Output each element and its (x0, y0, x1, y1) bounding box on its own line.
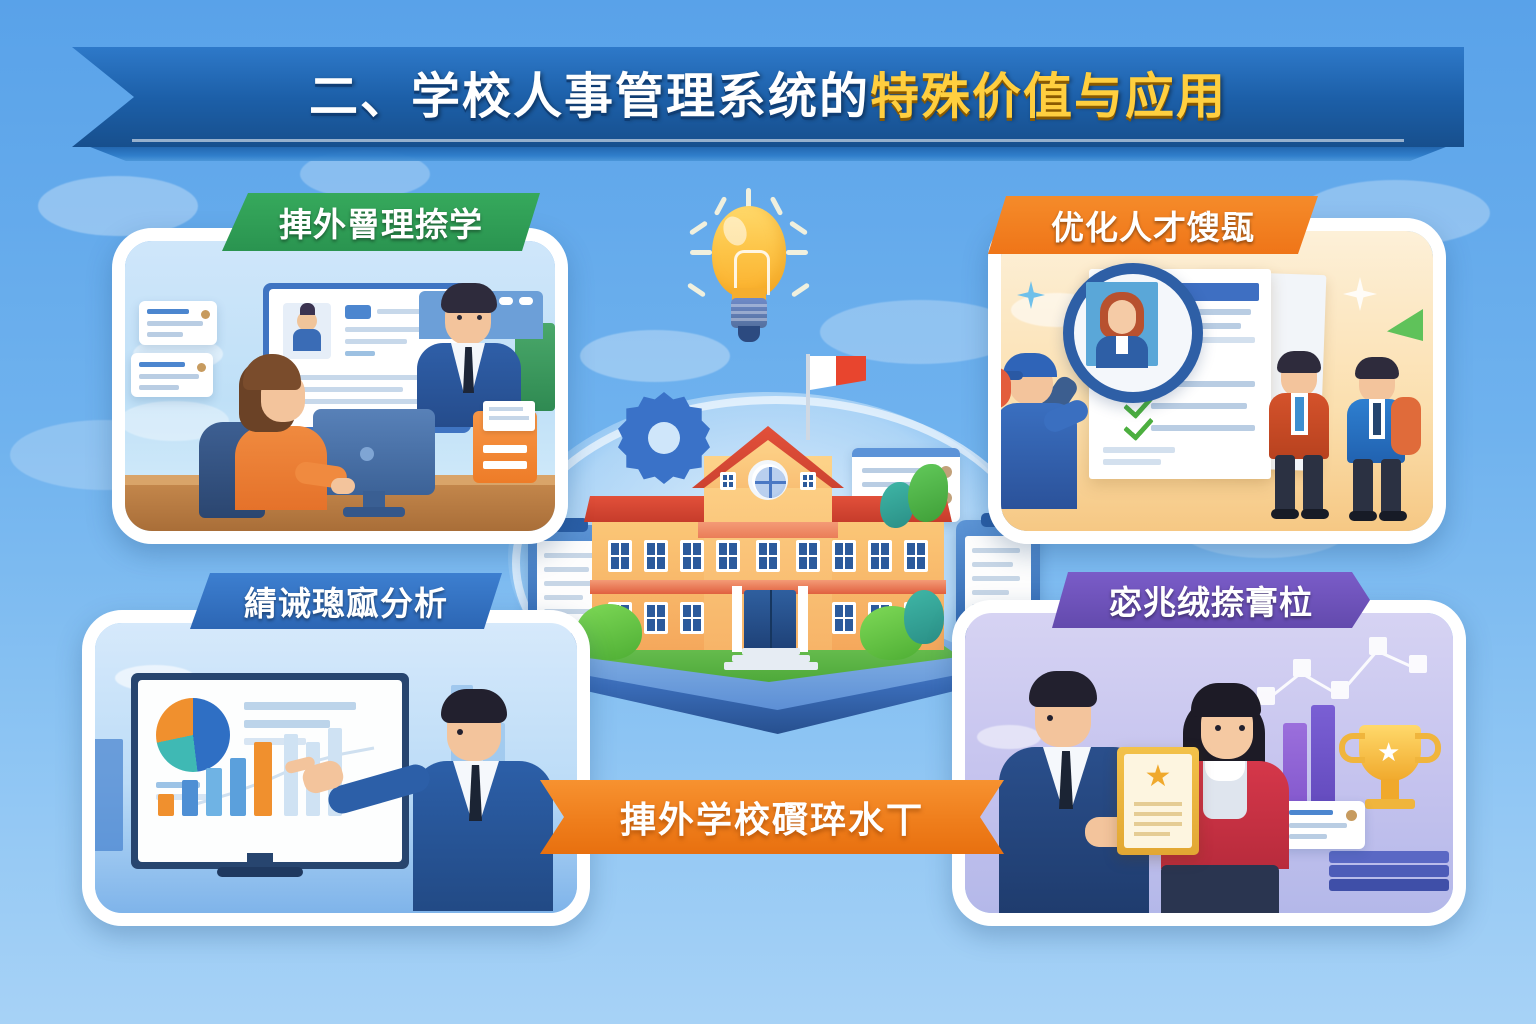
gold-certificate: ★ (1117, 747, 1199, 855)
presenter-pointing (391, 687, 571, 913)
cloud-decoration (38, 176, 198, 236)
panel-improve-management[interactable] (112, 228, 568, 544)
analytics-monitor (131, 673, 409, 869)
bush (904, 590, 944, 644)
bottom-center-banner: 捙外学校礥琗水丅 (540, 780, 1004, 854)
school-building-illustration (592, 430, 944, 688)
pediment-band (698, 522, 838, 538)
window (868, 540, 892, 572)
checkmark-icon (1123, 410, 1154, 441)
chart-screen (138, 680, 402, 862)
column (732, 586, 742, 652)
scene-hr-interview (125, 241, 555, 531)
pediment-window (800, 472, 816, 490)
entrance-steps (724, 648, 818, 670)
title-text-white: 二、学校人事管理系统的 (309, 73, 870, 122)
chart-bar (158, 794, 174, 816)
chart-bar (284, 734, 298, 816)
star-emblem: ★ (1145, 762, 1172, 792)
label-optimize-talent: 优化人才馊瓺 (988, 196, 1318, 254)
scene-data-analytics (95, 623, 577, 913)
title-text-gold: 特殊价值与应用 (870, 73, 1227, 122)
column (798, 586, 808, 652)
flag-pole (806, 354, 810, 440)
window (832, 602, 856, 634)
window (644, 540, 668, 572)
pediment-window (720, 472, 736, 490)
panel-performance-review[interactable]: ★ (952, 600, 1466, 926)
panel-optimize-talent[interactable] (988, 218, 1446, 544)
window (756, 540, 780, 572)
window (904, 540, 928, 572)
scene-performance-award: ★ (965, 613, 1453, 913)
window (832, 540, 856, 572)
chart-bar (182, 780, 198, 816)
label-data-analysis: 綪诫璁寙分析 (190, 573, 502, 629)
title-ribbon: 二、学校人事管理系统的特殊价值与应用 (72, 47, 1464, 147)
window (608, 540, 632, 572)
scene-talent-screening (1001, 231, 1433, 531)
label-performance-review: 宓兆绒捺膏柆 (1052, 572, 1370, 628)
bg-bar (89, 739, 123, 851)
school-entrance-door (744, 590, 796, 650)
panel-data-analysis[interactable] (82, 610, 590, 926)
candidate-blue (1343, 355, 1419, 525)
chart-bar (230, 758, 246, 816)
candidate-orange (1263, 351, 1337, 525)
window (716, 540, 740, 572)
round-window (748, 460, 788, 500)
chart-bar (206, 768, 222, 816)
chart-bar (254, 742, 272, 816)
page-title: 二、学校人事管理系统的特殊价值与应用 (72, 47, 1464, 147)
idea-lightbulb-icon (690, 188, 808, 356)
window (796, 540, 820, 572)
backpack (1391, 397, 1421, 455)
window (680, 540, 704, 572)
window (644, 602, 668, 634)
poster-canvas: 二、学校人事管理系统的特殊价值与应用 (0, 0, 1536, 1024)
orange-folder (473, 411, 537, 483)
label-improve-management: 捙外罾理捺学 (222, 193, 540, 251)
window (680, 602, 704, 634)
recruiter-with-cap (995, 349, 1093, 509)
woman-hr-staff (199, 338, 349, 523)
national-flag (810, 356, 866, 390)
